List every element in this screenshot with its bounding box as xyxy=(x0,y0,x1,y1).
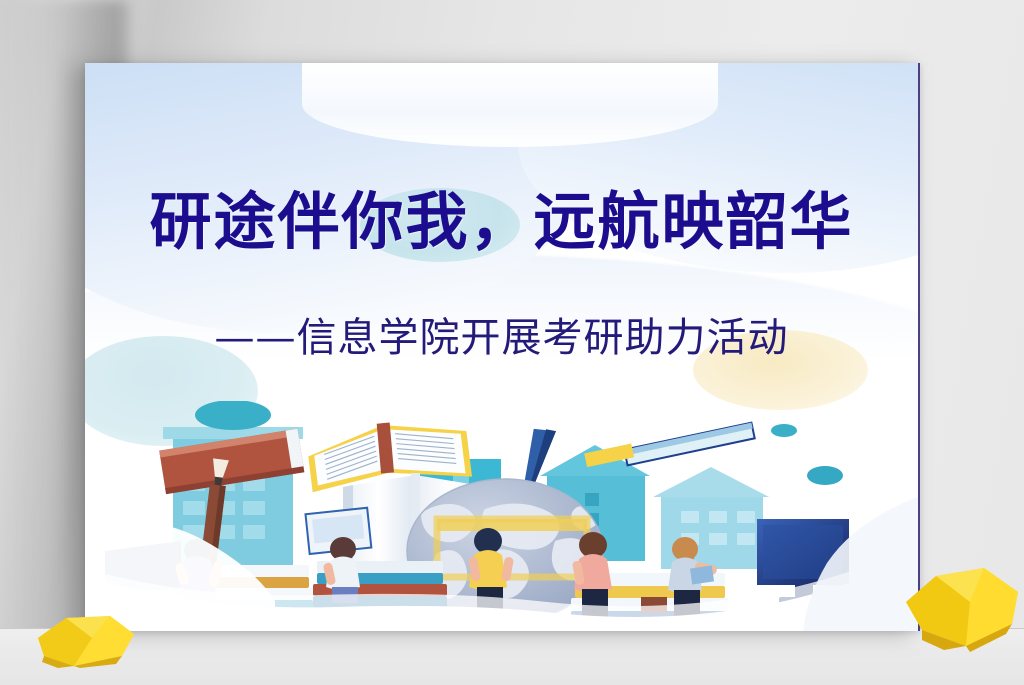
yellow-crystal-left xyxy=(30,608,142,670)
poster-title: 研途伴你我，远航映韶华 xyxy=(85,191,918,253)
yellow-crystal-right xyxy=(900,558,1024,656)
poster-subtitle: ——信息学院开展考研助力活动 xyxy=(85,318,918,358)
wave-crest-highlight xyxy=(302,63,719,147)
poster-mockup-scene: 研途伴你我，远航映韶华 ——信息学院开展考研助力活动 xyxy=(0,0,1024,685)
poster: 研途伴你我，远航映韶华 ——信息学院开展考研助力活动 xyxy=(85,63,920,631)
illustration-students-books-globe xyxy=(85,401,918,631)
studio-floor xyxy=(0,628,1024,685)
